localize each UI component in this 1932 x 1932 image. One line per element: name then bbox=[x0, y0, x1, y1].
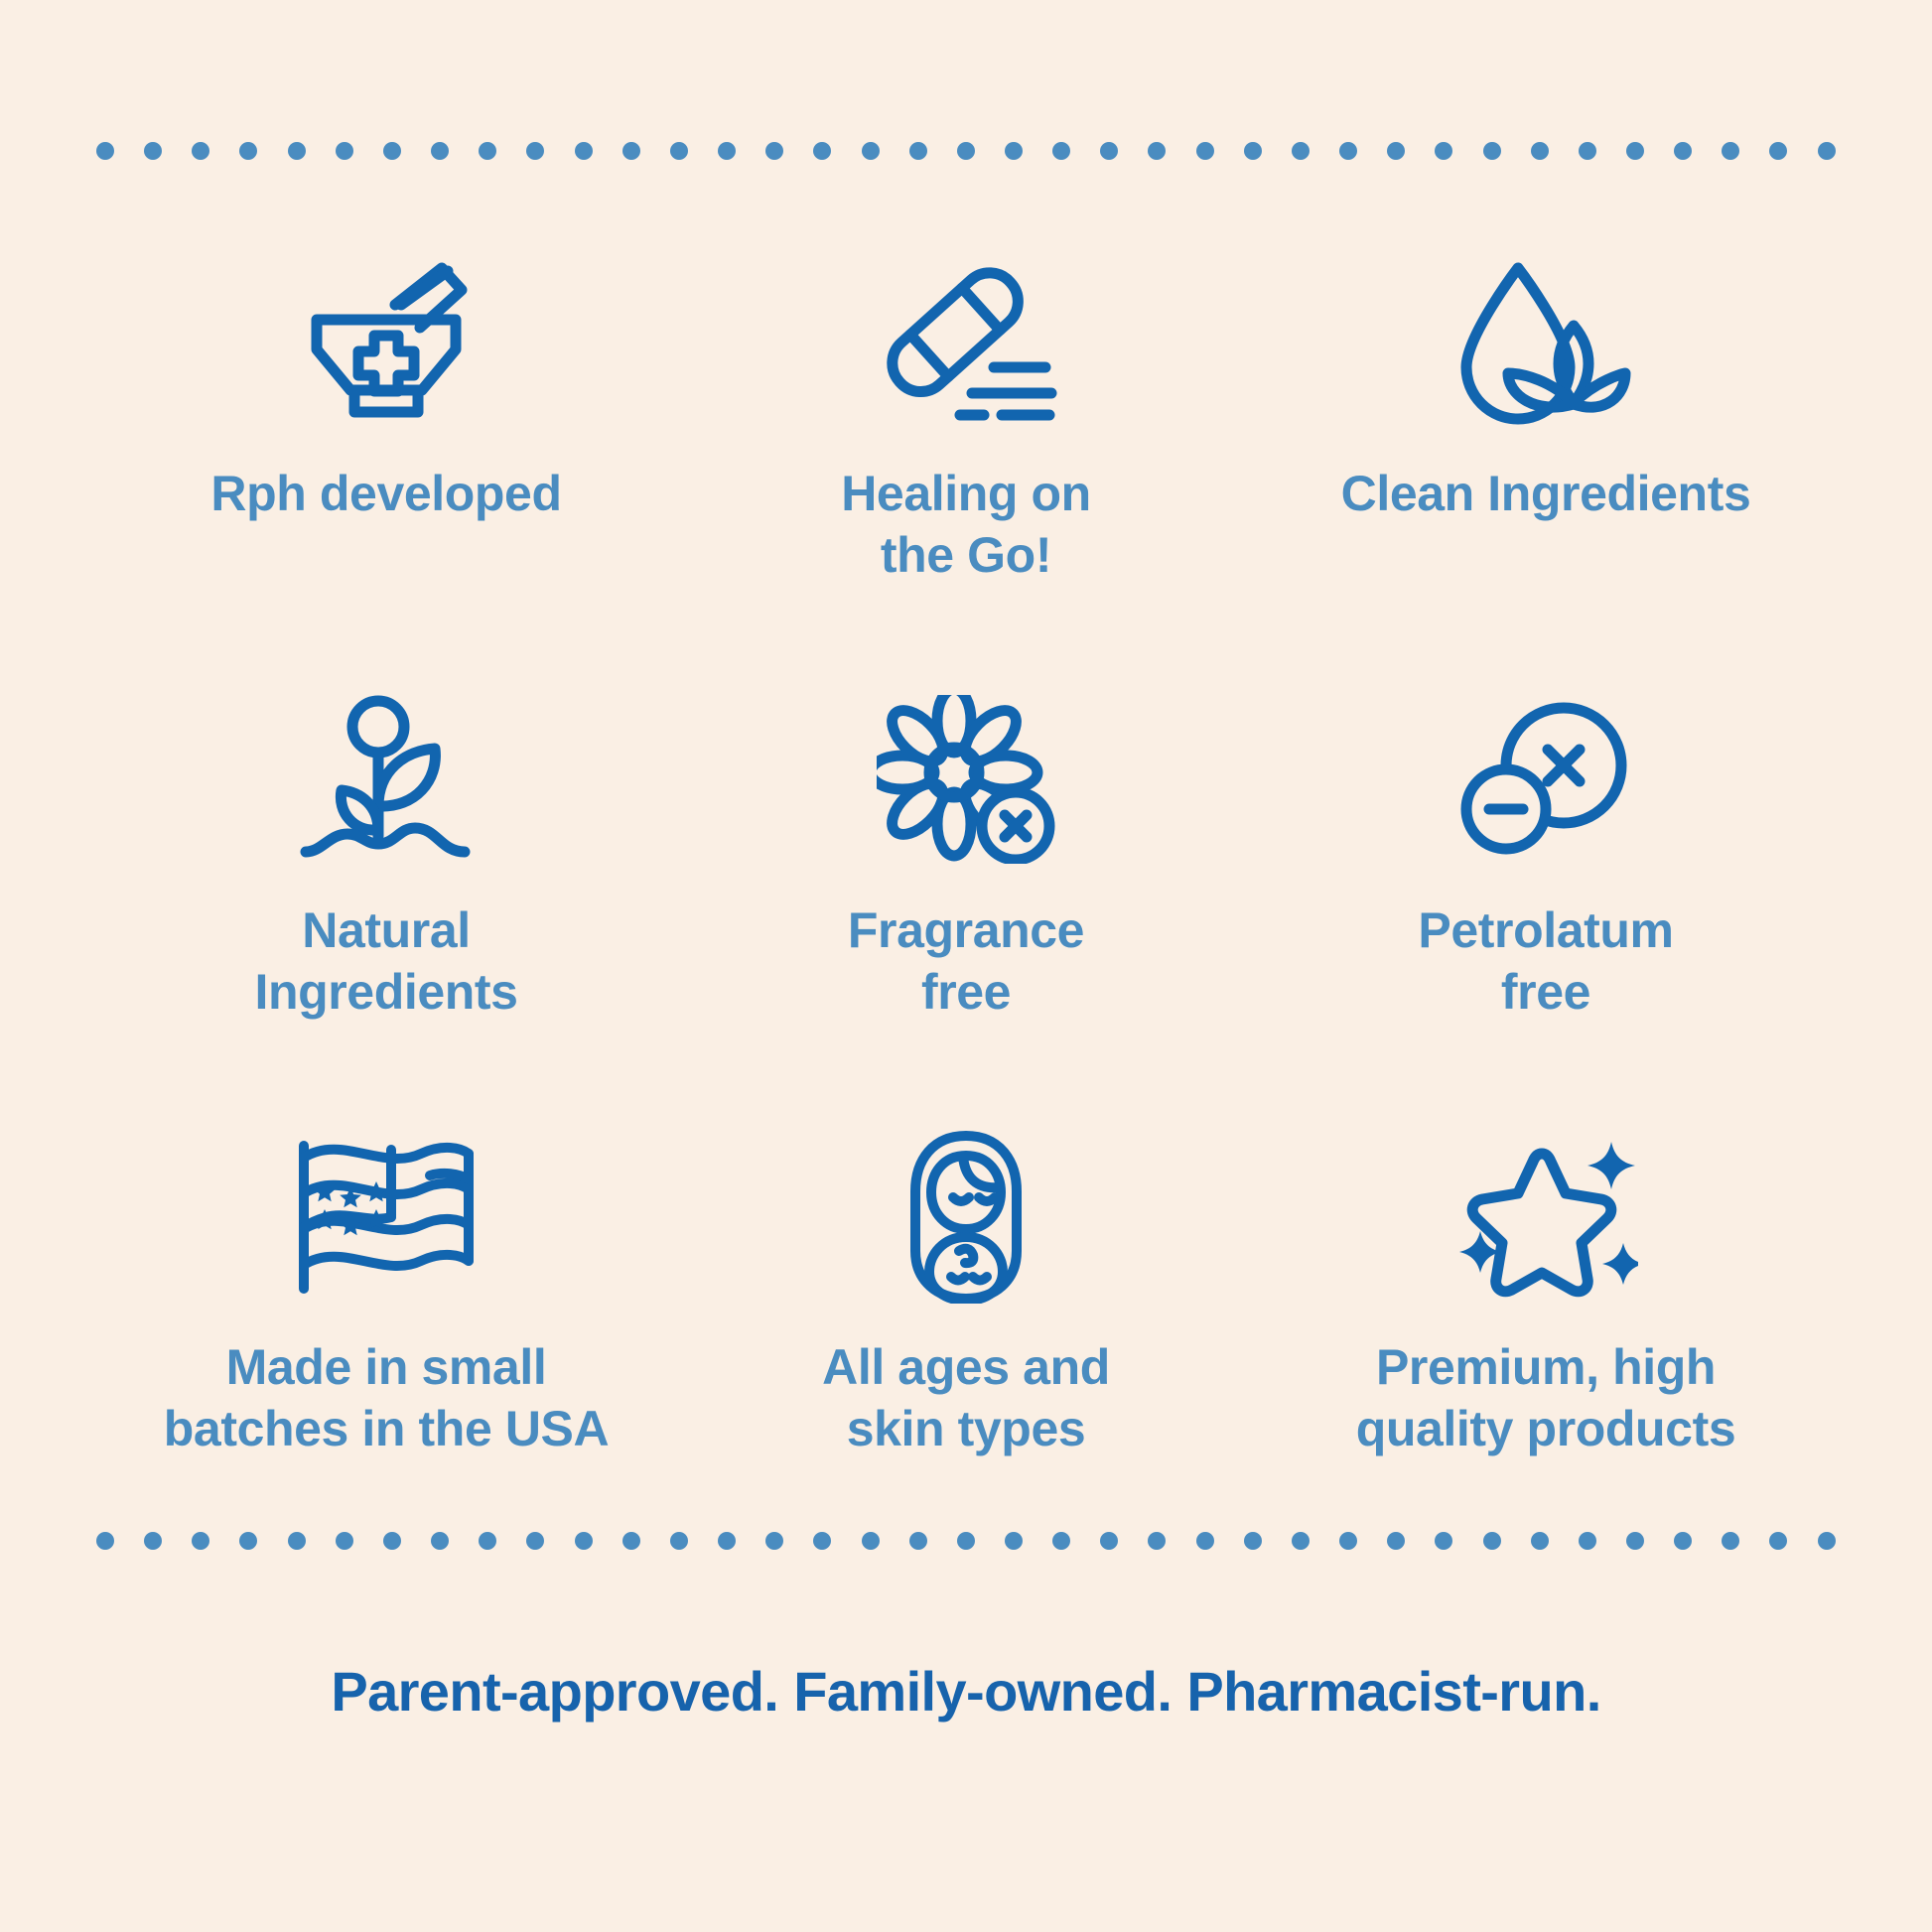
feature-item-petrolatum-free: Petrolatum free bbox=[1256, 657, 1836, 1094]
divider-dot bbox=[1818, 142, 1836, 160]
divider-dot bbox=[909, 1532, 927, 1550]
divider-dot bbox=[765, 142, 783, 160]
water-drop-leaf-icon bbox=[1456, 248, 1635, 437]
divider-dot bbox=[1244, 142, 1262, 160]
divider-dot bbox=[1292, 142, 1310, 160]
divider-dot bbox=[862, 1532, 880, 1550]
divider-dot bbox=[431, 142, 449, 160]
divider-dot bbox=[1722, 1532, 1739, 1550]
divider-dot bbox=[909, 142, 927, 160]
divider-dot bbox=[1531, 1532, 1549, 1550]
divider-dot bbox=[622, 1532, 640, 1550]
divider-dot bbox=[1339, 142, 1357, 160]
divider-dot bbox=[526, 1532, 544, 1550]
divider-dot bbox=[622, 142, 640, 160]
divider-dot bbox=[1769, 142, 1787, 160]
divider-dot bbox=[1579, 1532, 1596, 1550]
divider-dot bbox=[718, 1532, 736, 1550]
divider-dot bbox=[288, 142, 306, 160]
divider-dot bbox=[192, 1532, 209, 1550]
divider-dot bbox=[1100, 1532, 1118, 1550]
feature-item-natural-ingredients: Natural Ingredients bbox=[96, 657, 676, 1094]
divider-dot bbox=[1387, 142, 1405, 160]
divider-dot bbox=[336, 1532, 353, 1550]
divider-dot bbox=[239, 1532, 257, 1550]
divider-dot bbox=[383, 1532, 401, 1550]
divider-dot bbox=[1435, 142, 1452, 160]
feature-item-clean-ingredients: Clean Ingredients bbox=[1256, 220, 1836, 657]
divider-dot bbox=[479, 142, 496, 160]
feature-grid: Rph developed Healing on the Go! bbox=[96, 220, 1836, 1531]
divider-dot bbox=[288, 1532, 306, 1550]
divider-dot bbox=[1722, 142, 1739, 160]
tagline: Parent-approved. Family-owned. Pharmacis… bbox=[331, 1660, 1600, 1724]
feature-item-premium-quality: Premium, high quality products bbox=[1256, 1094, 1836, 1531]
divider-dot bbox=[239, 142, 257, 160]
divider-dot bbox=[526, 142, 544, 160]
divider-dot bbox=[1769, 1532, 1787, 1550]
divider-dot bbox=[1483, 142, 1501, 160]
divider-dot bbox=[1483, 1532, 1501, 1550]
divider-dot bbox=[1052, 142, 1070, 160]
divider-dot bbox=[1387, 1532, 1405, 1550]
feature-item-rph-developed: Rph developed bbox=[96, 220, 676, 657]
divider-dot bbox=[1052, 1532, 1070, 1550]
divider-dot bbox=[670, 1532, 688, 1550]
star-sparkle-icon bbox=[1454, 1122, 1638, 1311]
divider-dot bbox=[1244, 1532, 1262, 1550]
divider-dot bbox=[718, 142, 736, 160]
divider-dot bbox=[144, 1532, 162, 1550]
feature-label: Premium, high quality products bbox=[1356, 1336, 1736, 1459]
feature-label: Natural Ingredients bbox=[254, 899, 517, 1023]
divider-dot bbox=[670, 142, 688, 160]
feature-badge-page: Rph developed Healing on the Go! bbox=[0, 0, 1932, 1932]
feature-label: All ages and skin types bbox=[822, 1336, 1110, 1459]
divider-dot bbox=[1005, 142, 1023, 160]
dotted-divider-top bbox=[96, 141, 1836, 161]
divider-dot bbox=[1148, 1532, 1166, 1550]
feature-label: Healing on the Go! bbox=[841, 463, 1091, 586]
flower-no-fragrance-icon bbox=[877, 685, 1055, 874]
divider-dot bbox=[1196, 1532, 1214, 1550]
divider-dot bbox=[813, 1532, 831, 1550]
divider-dot bbox=[1148, 142, 1166, 160]
divider-dot bbox=[765, 1532, 783, 1550]
divider-dot bbox=[862, 142, 880, 160]
divider-dot bbox=[1674, 142, 1692, 160]
divider-dot bbox=[957, 142, 975, 160]
sprout-plant-icon bbox=[300, 685, 474, 874]
mother-and-baby-icon bbox=[892, 1122, 1040, 1311]
divider-dot bbox=[1818, 1532, 1836, 1550]
divider-dot bbox=[1626, 142, 1644, 160]
divider-dot bbox=[1196, 142, 1214, 160]
divider-dot bbox=[1005, 1532, 1023, 1550]
feature-label: Fragrance free bbox=[848, 899, 1084, 1023]
divider-dot bbox=[96, 1532, 114, 1550]
divider-dot bbox=[1626, 1532, 1644, 1550]
bandage-motion-icon bbox=[875, 248, 1058, 437]
feature-label: Petrolatum free bbox=[1418, 899, 1673, 1023]
divider-dot bbox=[575, 142, 593, 160]
divider-dot bbox=[192, 142, 209, 160]
divider-dot bbox=[1292, 1532, 1310, 1550]
no-petrolatum-icon bbox=[1456, 685, 1635, 874]
divider-dot bbox=[1531, 142, 1549, 160]
divider-dot bbox=[813, 142, 831, 160]
divider-dot bbox=[144, 142, 162, 160]
divider-dot bbox=[479, 1532, 496, 1550]
usa-flag-icon bbox=[292, 1122, 481, 1311]
divider-dot bbox=[383, 142, 401, 160]
feature-label: Made in small batches in the USA bbox=[164, 1336, 609, 1459]
divider-dot bbox=[575, 1532, 593, 1550]
feature-item-healing-on-the-go: Healing on the Go! bbox=[676, 220, 1256, 657]
divider-dot bbox=[431, 1532, 449, 1550]
feature-item-fragrance-free: Fragrance free bbox=[676, 657, 1256, 1094]
feature-label: Rph developed bbox=[210, 463, 561, 524]
divider-dot bbox=[1674, 1532, 1692, 1550]
feature-item-made-in-usa: Made in small batches in the USA bbox=[96, 1094, 676, 1531]
divider-dot bbox=[1579, 142, 1596, 160]
divider-dot bbox=[1339, 1532, 1357, 1550]
divider-dot bbox=[1435, 1532, 1452, 1550]
dotted-divider-bottom bbox=[96, 1531, 1836, 1551]
mortar-and-pestle-icon bbox=[297, 248, 476, 437]
divider-dot bbox=[957, 1532, 975, 1550]
feature-item-all-ages: All ages and skin types bbox=[676, 1094, 1256, 1531]
divider-dot bbox=[336, 142, 353, 160]
divider-dot bbox=[1100, 142, 1118, 160]
feature-label: Clean Ingredients bbox=[1341, 463, 1751, 524]
divider-dot bbox=[96, 142, 114, 160]
